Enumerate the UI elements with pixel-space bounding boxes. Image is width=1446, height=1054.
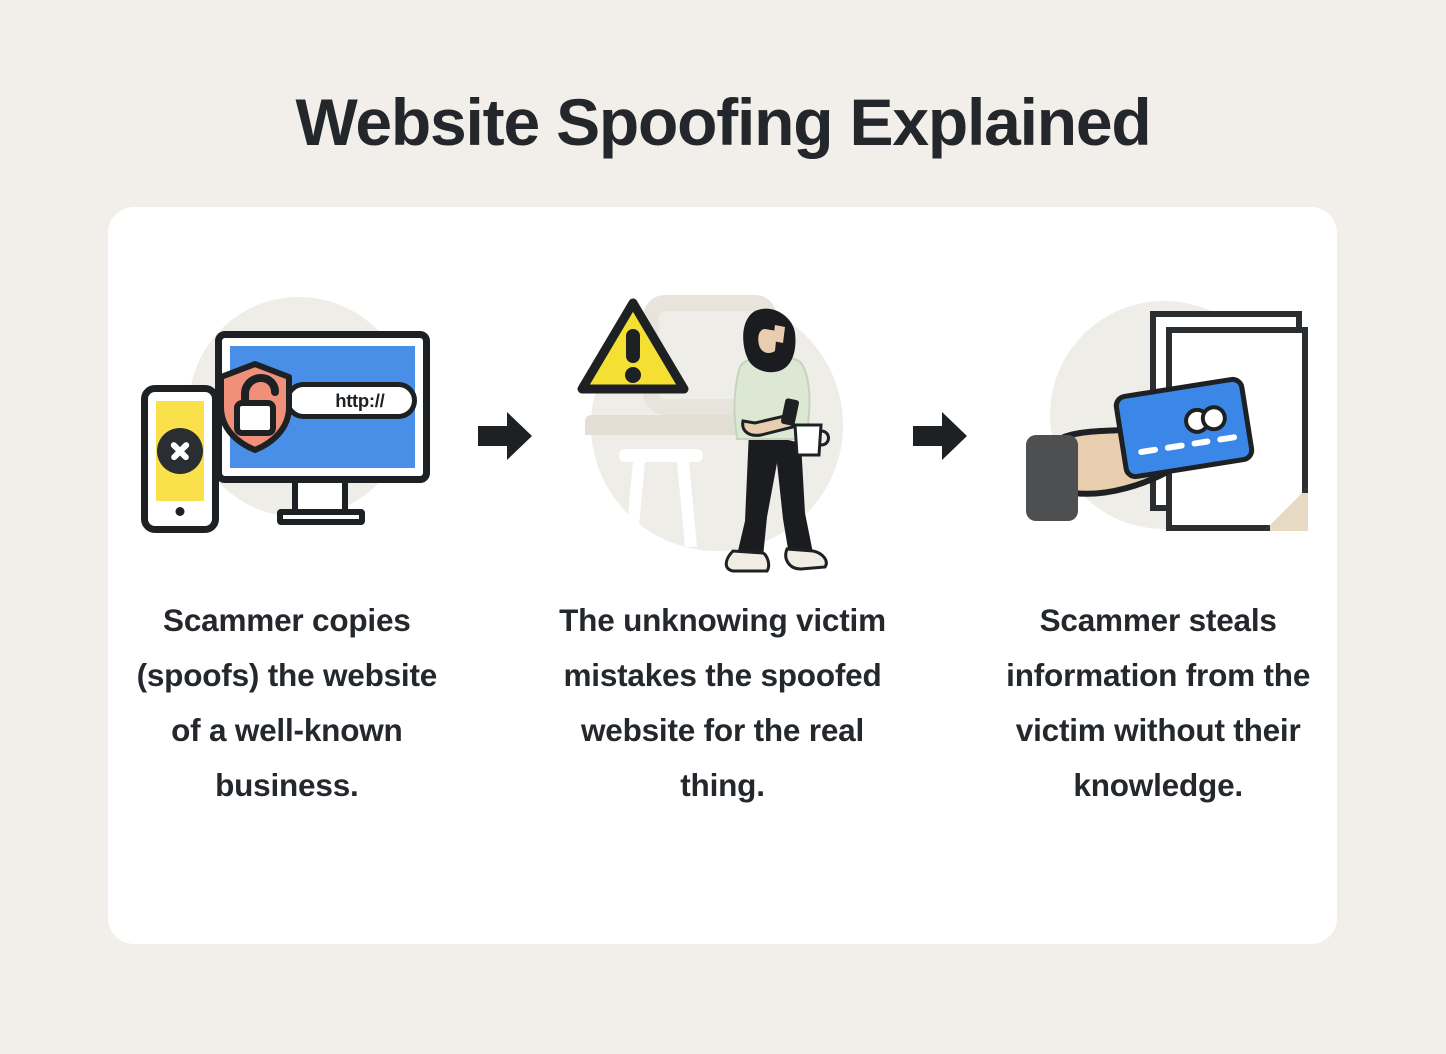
step-1-illustration: http:// xyxy=(137,289,437,579)
step-2: The unknowing victim mistakes the spoofe… xyxy=(544,207,902,814)
arrow-step-1-to-2 xyxy=(466,207,544,462)
step-2-caption: The unknowing victim mistakes the spoofe… xyxy=(558,593,888,814)
card-number-dashes xyxy=(1138,434,1238,456)
stool-icon xyxy=(617,449,705,549)
x-mark-icon xyxy=(157,428,203,474)
content-card: http:// xyxy=(108,207,1337,944)
step-3-caption: Scammer steals information from the vict… xyxy=(993,593,1323,814)
url-bar-text: http:// xyxy=(335,390,384,412)
card-number-dash xyxy=(1164,442,1184,451)
steps-row: http:// xyxy=(108,207,1337,847)
sleeve-cuff xyxy=(1026,435,1078,521)
page-title: Website Spoofing Explained xyxy=(0,88,1446,157)
card-number-dash xyxy=(1191,438,1211,447)
step-1-caption: Scammer copies (spoofs) the website of a… xyxy=(122,593,452,814)
person-icon xyxy=(697,303,845,575)
step-3-illustration xyxy=(1008,289,1308,579)
smartphone-icon xyxy=(141,385,219,533)
step-3: Scammer steals information from the vict… xyxy=(979,207,1337,814)
phone-screen xyxy=(156,401,204,501)
shield-unlocked-icon xyxy=(215,361,295,453)
right-arrow-icon xyxy=(476,410,534,462)
right-arrow-icon xyxy=(911,410,969,462)
arrow-step-2-to-3 xyxy=(901,207,979,462)
card-number-dash xyxy=(1138,446,1158,455)
card-logo-circles xyxy=(1182,403,1232,436)
url-bar: http:// xyxy=(285,382,417,419)
step-1: http:// xyxy=(108,207,466,814)
card-number-dash xyxy=(1217,434,1237,443)
infographic-root: Website Spoofing Explained http:// xyxy=(0,0,1446,1054)
monitor-stand-base xyxy=(277,509,365,525)
phone-home-button xyxy=(175,507,184,516)
warning-triangle-icon xyxy=(577,297,689,397)
step-2-illustration xyxy=(573,289,873,579)
